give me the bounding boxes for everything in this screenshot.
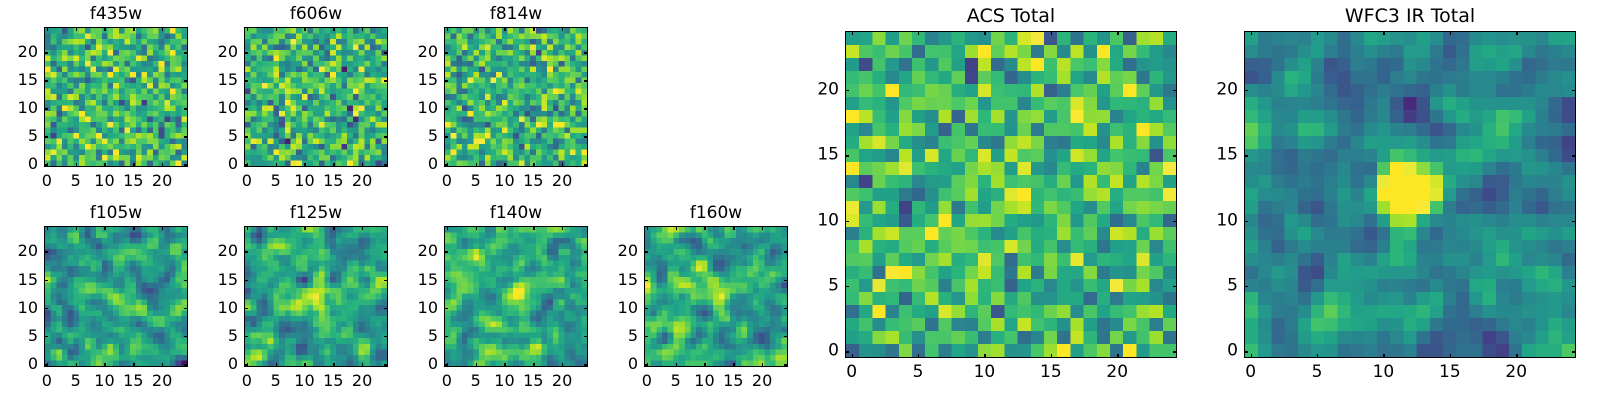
y-tick-mark (845, 90, 849, 91)
x-tick-mark (476, 363, 477, 367)
y-tick-mark-right (584, 280, 588, 281)
x-tick-mark (1450, 354, 1451, 358)
x-tick-mark (1516, 354, 1517, 358)
y-tick-mark-right (584, 308, 588, 309)
y-tick-mark-right (784, 308, 788, 309)
y-tick-label: 5 (428, 327, 438, 345)
y-tick-label: 10 (18, 99, 38, 117)
y-tick-mark-right (784, 336, 788, 337)
y-tick-mark-right (184, 52, 188, 53)
y-tick-mark-right (1173, 155, 1177, 156)
y-tick-mark-right (1572, 155, 1576, 156)
y-tick-mark-right (384, 164, 388, 165)
y-tick-mark (44, 336, 48, 337)
heatmap-axes (845, 31, 1177, 358)
x-tick-mark-top (1251, 31, 1252, 35)
x-tick-mark (333, 163, 334, 167)
y-tick-mark (845, 286, 849, 287)
y-tick-mark (845, 351, 849, 352)
x-tick-mark (562, 163, 563, 167)
x-tick-mark-top (562, 226, 563, 230)
x-tick-mark-top (918, 31, 919, 35)
x-tick-label: 20 (552, 372, 572, 390)
y-tick-mark-right (1173, 286, 1177, 287)
x-tick-mark-top (247, 226, 248, 230)
y-tick-label: 0 (1227, 342, 1238, 361)
x-tick-mark-top (852, 31, 853, 35)
y-tick-mark (244, 80, 248, 81)
x-tick-mark-top (447, 27, 448, 31)
x-tick-label: 5 (671, 372, 681, 390)
y-tick-mark-right (1572, 221, 1576, 222)
y-tick-mark-right (184, 308, 188, 309)
heatmap-image (846, 32, 1176, 357)
x-tick-mark-top (104, 226, 105, 230)
heatmap-image (645, 227, 787, 366)
x-tick-label: 10 (94, 372, 114, 390)
x-tick-mark (76, 163, 77, 167)
y-tick-mark-right (584, 164, 588, 165)
x-tick-mark (533, 163, 534, 167)
x-tick-mark (1383, 354, 1384, 358)
x-tick-mark (504, 163, 505, 167)
heatmap-axes (444, 226, 588, 367)
heatmap-axes (44, 226, 188, 367)
x-tick-label: 5 (271, 172, 281, 190)
heatmap-image (1245, 32, 1575, 357)
y-tick-label: 20 (817, 80, 839, 99)
x-tick-label: 15 (1439, 363, 1461, 382)
x-tick-mark-top (47, 27, 48, 31)
x-tick-mark (333, 363, 334, 367)
x-tick-label: 20 (352, 372, 372, 390)
y-tick-label: 5 (28, 327, 38, 345)
y-tick-mark (44, 80, 48, 81)
y-tick-mark (244, 164, 248, 165)
x-tick-mark-top (476, 226, 477, 230)
x-tick-mark (676, 363, 677, 367)
x-tick-mark (276, 163, 277, 167)
x-tick-label: 0 (242, 372, 252, 390)
y-tick-label: 20 (18, 43, 38, 61)
x-tick-label: 0 (442, 172, 452, 190)
x-tick-mark (362, 163, 363, 167)
x-tick-mark (304, 163, 305, 167)
x-tick-label: 20 (152, 372, 172, 390)
y-tick-mark-right (784, 364, 788, 365)
x-tick-mark (704, 363, 705, 367)
x-tick-mark (362, 363, 363, 367)
x-tick-label: 20 (352, 172, 372, 190)
panel-f606w: f606w0510152005101520 (244, 27, 388, 167)
x-tick-mark-top (362, 226, 363, 230)
y-tick-mark (444, 251, 448, 252)
panel-f814w: f814w0510152005101520 (444, 27, 588, 167)
y-tick-mark (1244, 351, 1248, 352)
y-tick-mark (845, 221, 849, 222)
x-tick-mark-top (247, 27, 248, 31)
heatmap-image (445, 227, 587, 366)
x-tick-mark-top (447, 226, 448, 230)
y-tick-mark-right (384, 280, 388, 281)
x-tick-label: 10 (494, 172, 514, 190)
x-tick-mark-top (133, 27, 134, 31)
y-tick-mark-right (584, 364, 588, 365)
x-tick-label: 20 (552, 172, 572, 190)
y-tick-mark (444, 108, 448, 109)
x-tick-mark-top (304, 226, 305, 230)
x-tick-label: 20 (752, 372, 772, 390)
panel-title: f125w (244, 203, 388, 223)
y-tick-mark (444, 52, 448, 53)
x-tick-label: 5 (913, 363, 924, 382)
y-tick-label: 10 (218, 99, 238, 117)
y-tick-label: 0 (828, 342, 839, 361)
x-tick-label: 10 (694, 372, 714, 390)
y-tick-label: 10 (817, 211, 839, 230)
x-tick-label: 5 (71, 172, 81, 190)
x-tick-label: 5 (471, 372, 481, 390)
y-tick-mark (244, 251, 248, 252)
y-tick-mark (1244, 155, 1248, 156)
x-tick-label: 0 (642, 372, 652, 390)
x-tick-mark (1051, 354, 1052, 358)
x-tick-label: 0 (1245, 363, 1256, 382)
y-tick-mark (44, 308, 48, 309)
x-tick-label: 15 (723, 372, 743, 390)
y-tick-mark-right (784, 251, 788, 252)
y-tick-mark-right (584, 108, 588, 109)
figure-canvas: f435w0510152005101520f606w05101520051015… (0, 0, 1600, 400)
y-tick-label: 15 (1216, 146, 1238, 165)
x-tick-mark-top (762, 226, 763, 230)
x-tick-mark (304, 363, 305, 367)
x-tick-mark-top (733, 226, 734, 230)
x-tick-label: 5 (71, 372, 81, 390)
x-tick-mark-top (984, 31, 985, 35)
y-tick-label: 5 (428, 127, 438, 145)
panel-f160w: f160w0510152005101520 (644, 226, 788, 367)
x-tick-mark-top (1317, 31, 1318, 35)
y-tick-mark (644, 336, 648, 337)
x-tick-label: 20 (1505, 363, 1527, 382)
y-tick-label: 5 (628, 327, 638, 345)
panel-f105w: f105w0510152005101520 (44, 226, 188, 367)
x-tick-label: 0 (846, 363, 857, 382)
y-tick-mark-right (1173, 221, 1177, 222)
y-tick-mark-right (584, 136, 588, 137)
y-tick-mark (244, 108, 248, 109)
y-tick-mark-right (384, 251, 388, 252)
y-tick-mark (44, 52, 48, 53)
heatmap-image (245, 28, 387, 166)
x-tick-mark-top (533, 226, 534, 230)
x-tick-mark-top (362, 27, 363, 31)
x-tick-mark-top (47, 226, 48, 230)
x-tick-mark-top (647, 226, 648, 230)
x-tick-mark-top (504, 226, 505, 230)
x-tick-mark (1317, 354, 1318, 358)
x-tick-label: 10 (94, 172, 114, 190)
x-tick-label: 10 (294, 372, 314, 390)
panel-title: f160w (644, 203, 788, 223)
x-tick-label: 15 (123, 172, 143, 190)
y-tick-mark (444, 364, 448, 365)
x-tick-label: 15 (323, 372, 343, 390)
y-tick-label: 10 (218, 299, 238, 317)
x-tick-mark (984, 354, 985, 358)
y-tick-mark-right (1173, 90, 1177, 91)
x-tick-mark-top (104, 27, 105, 31)
x-tick-mark (1251, 354, 1252, 358)
y-tick-mark (44, 108, 48, 109)
y-tick-mark-right (384, 336, 388, 337)
y-tick-mark (44, 164, 48, 165)
x-tick-mark-top (162, 27, 163, 31)
y-tick-label: 5 (828, 277, 839, 296)
y-tick-mark-right (184, 251, 188, 252)
y-tick-label: 20 (418, 242, 438, 260)
y-tick-mark-right (184, 336, 188, 337)
y-tick-mark (444, 80, 448, 81)
heatmap-image (445, 28, 587, 166)
x-tick-mark (533, 363, 534, 367)
y-tick-mark (44, 136, 48, 137)
y-tick-mark (44, 251, 48, 252)
y-tick-label: 0 (28, 155, 38, 173)
x-tick-mark (104, 363, 105, 367)
x-tick-label: 20 (152, 172, 172, 190)
x-tick-label: 15 (523, 372, 543, 390)
y-tick-label: 20 (1216, 80, 1238, 99)
y-tick-label: 0 (228, 155, 238, 173)
y-tick-label: 15 (418, 271, 438, 289)
x-tick-label: 0 (42, 172, 52, 190)
y-tick-label: 20 (218, 43, 238, 61)
y-tick-label: 20 (18, 242, 38, 260)
y-tick-mark-right (784, 280, 788, 281)
panel-f435w: f435w0510152005101520 (44, 27, 188, 167)
heatmap-axes (244, 226, 388, 367)
y-tick-mark-right (184, 80, 188, 81)
y-tick-mark (644, 364, 648, 365)
panel-f140w: f140w0510152005101520 (444, 226, 588, 367)
x-tick-mark-top (504, 27, 505, 31)
heatmap-image (45, 227, 187, 366)
x-tick-label: 15 (123, 372, 143, 390)
y-tick-mark (444, 136, 448, 137)
x-tick-mark-top (76, 27, 77, 31)
y-tick-mark-right (384, 364, 388, 365)
y-tick-mark-right (584, 336, 588, 337)
x-tick-mark (476, 163, 477, 167)
y-tick-mark-right (384, 136, 388, 137)
y-tick-label: 0 (428, 155, 438, 173)
x-tick-mark (76, 363, 77, 367)
x-tick-mark (762, 363, 763, 367)
x-tick-mark (918, 354, 919, 358)
y-tick-label: 5 (28, 127, 38, 145)
panel-title: f105w (44, 203, 188, 223)
y-tick-mark (244, 136, 248, 137)
y-tick-label: 5 (228, 327, 238, 345)
y-tick-label: 10 (418, 299, 438, 317)
y-tick-mark (244, 52, 248, 53)
panel-f125w: f125w0510152005101520 (244, 226, 388, 367)
x-tick-label: 15 (523, 172, 543, 190)
y-tick-label: 0 (428, 355, 438, 373)
x-tick-mark-top (133, 226, 134, 230)
y-tick-label: 15 (817, 146, 839, 165)
y-tick-mark-right (584, 251, 588, 252)
y-tick-mark-right (184, 280, 188, 281)
y-tick-mark (644, 308, 648, 309)
x-tick-mark-top (1051, 31, 1052, 35)
y-tick-label: 15 (218, 71, 238, 89)
heatmap-image (45, 28, 187, 166)
y-tick-label: 20 (218, 242, 238, 260)
x-tick-label: 0 (242, 172, 252, 190)
x-tick-label: 5 (471, 172, 481, 190)
y-tick-label: 10 (618, 299, 638, 317)
y-tick-mark-right (184, 108, 188, 109)
heatmap-axes (644, 226, 788, 367)
x-tick-mark-top (333, 226, 334, 230)
y-tick-label: 5 (1227, 277, 1238, 296)
y-tick-label: 15 (418, 71, 438, 89)
x-tick-mark (1117, 354, 1118, 358)
panel-title: ACS Total (845, 5, 1177, 27)
x-tick-label: 20 (1106, 363, 1128, 382)
x-tick-label: 15 (323, 172, 343, 190)
y-tick-mark-right (184, 136, 188, 137)
y-tick-mark (44, 364, 48, 365)
x-tick-label: 10 (1373, 363, 1395, 382)
x-tick-mark-top (676, 226, 677, 230)
y-tick-mark-right (584, 80, 588, 81)
y-tick-mark-right (184, 164, 188, 165)
y-tick-mark (244, 364, 248, 365)
heatmap-axes (44, 27, 188, 167)
x-tick-mark (562, 363, 563, 367)
x-tick-mark-top (1383, 31, 1384, 35)
x-tick-label: 15 (1040, 363, 1062, 382)
y-tick-mark (1244, 221, 1248, 222)
x-tick-mark (162, 363, 163, 367)
panel-acs-total: ACS Total0510152005101520 (845, 31, 1177, 358)
panel-wfc3-ir-total: WFC3 IR Total0510152005101520 (1244, 31, 1576, 358)
x-tick-label: 10 (494, 372, 514, 390)
panel-title: f606w (244, 4, 388, 24)
panel-title: f140w (444, 203, 588, 223)
y-tick-mark (644, 280, 648, 281)
y-tick-mark (1244, 90, 1248, 91)
y-tick-label: 10 (1216, 211, 1238, 230)
y-tick-mark-right (184, 364, 188, 365)
x-tick-mark-top (304, 27, 305, 31)
y-tick-label: 15 (18, 271, 38, 289)
x-tick-label: 10 (294, 172, 314, 190)
y-tick-mark (1244, 286, 1248, 287)
y-tick-mark (444, 280, 448, 281)
panel-title: WFC3 IR Total (1244, 5, 1576, 27)
x-tick-label: 0 (442, 372, 452, 390)
x-tick-mark (133, 163, 134, 167)
y-tick-mark-right (1572, 90, 1576, 91)
x-tick-mark-top (1516, 31, 1517, 35)
x-tick-mark (852, 354, 853, 358)
panel-title: f814w (444, 4, 588, 24)
y-tick-mark (244, 336, 248, 337)
x-tick-label: 5 (271, 372, 281, 390)
x-tick-mark (504, 363, 505, 367)
y-tick-mark-right (384, 80, 388, 81)
x-tick-mark-top (562, 27, 563, 31)
x-tick-mark-top (276, 226, 277, 230)
y-tick-mark (444, 308, 448, 309)
x-tick-mark (133, 363, 134, 367)
x-tick-mark-top (704, 226, 705, 230)
x-tick-mark-top (162, 226, 163, 230)
y-tick-mark (244, 308, 248, 309)
heatmap-axes (444, 27, 588, 167)
x-tick-mark-top (76, 226, 77, 230)
heatmap-axes (1244, 31, 1576, 358)
y-tick-label: 10 (418, 99, 438, 117)
y-tick-label: 20 (618, 242, 638, 260)
y-tick-mark (444, 336, 448, 337)
y-tick-mark (44, 280, 48, 281)
y-tick-label: 15 (618, 271, 638, 289)
y-tick-mark-right (1572, 351, 1576, 352)
y-tick-label: 15 (18, 71, 38, 89)
y-tick-mark-right (1173, 351, 1177, 352)
x-tick-mark-top (476, 27, 477, 31)
x-tick-label: 10 (974, 363, 996, 382)
x-tick-mark-top (1117, 31, 1118, 35)
y-tick-mark (845, 155, 849, 156)
y-tick-label: 5 (228, 127, 238, 145)
y-tick-label: 0 (628, 355, 638, 373)
y-tick-mark-right (384, 108, 388, 109)
y-tick-mark-right (1572, 286, 1576, 287)
x-tick-mark-top (1450, 31, 1451, 35)
y-tick-mark (444, 164, 448, 165)
x-tick-mark-top (276, 27, 277, 31)
x-tick-mark-top (533, 27, 534, 31)
y-tick-mark-right (584, 52, 588, 53)
x-tick-mark (162, 163, 163, 167)
y-tick-mark-right (384, 308, 388, 309)
heatmap-axes (244, 27, 388, 167)
heatmap-image (245, 227, 387, 366)
y-tick-mark-right (384, 52, 388, 53)
x-tick-mark-top (333, 27, 334, 31)
y-tick-mark (244, 280, 248, 281)
y-tick-label: 20 (418, 43, 438, 61)
x-tick-mark (104, 163, 105, 167)
x-tick-label: 5 (1312, 363, 1323, 382)
x-tick-mark (276, 363, 277, 367)
panel-title: f435w (44, 4, 188, 24)
x-tick-label: 0 (42, 372, 52, 390)
y-tick-label: 0 (28, 355, 38, 373)
x-tick-mark (733, 363, 734, 367)
y-tick-mark (644, 251, 648, 252)
y-tick-label: 10 (18, 299, 38, 317)
y-tick-label: 0 (228, 355, 238, 373)
y-tick-label: 15 (218, 271, 238, 289)
